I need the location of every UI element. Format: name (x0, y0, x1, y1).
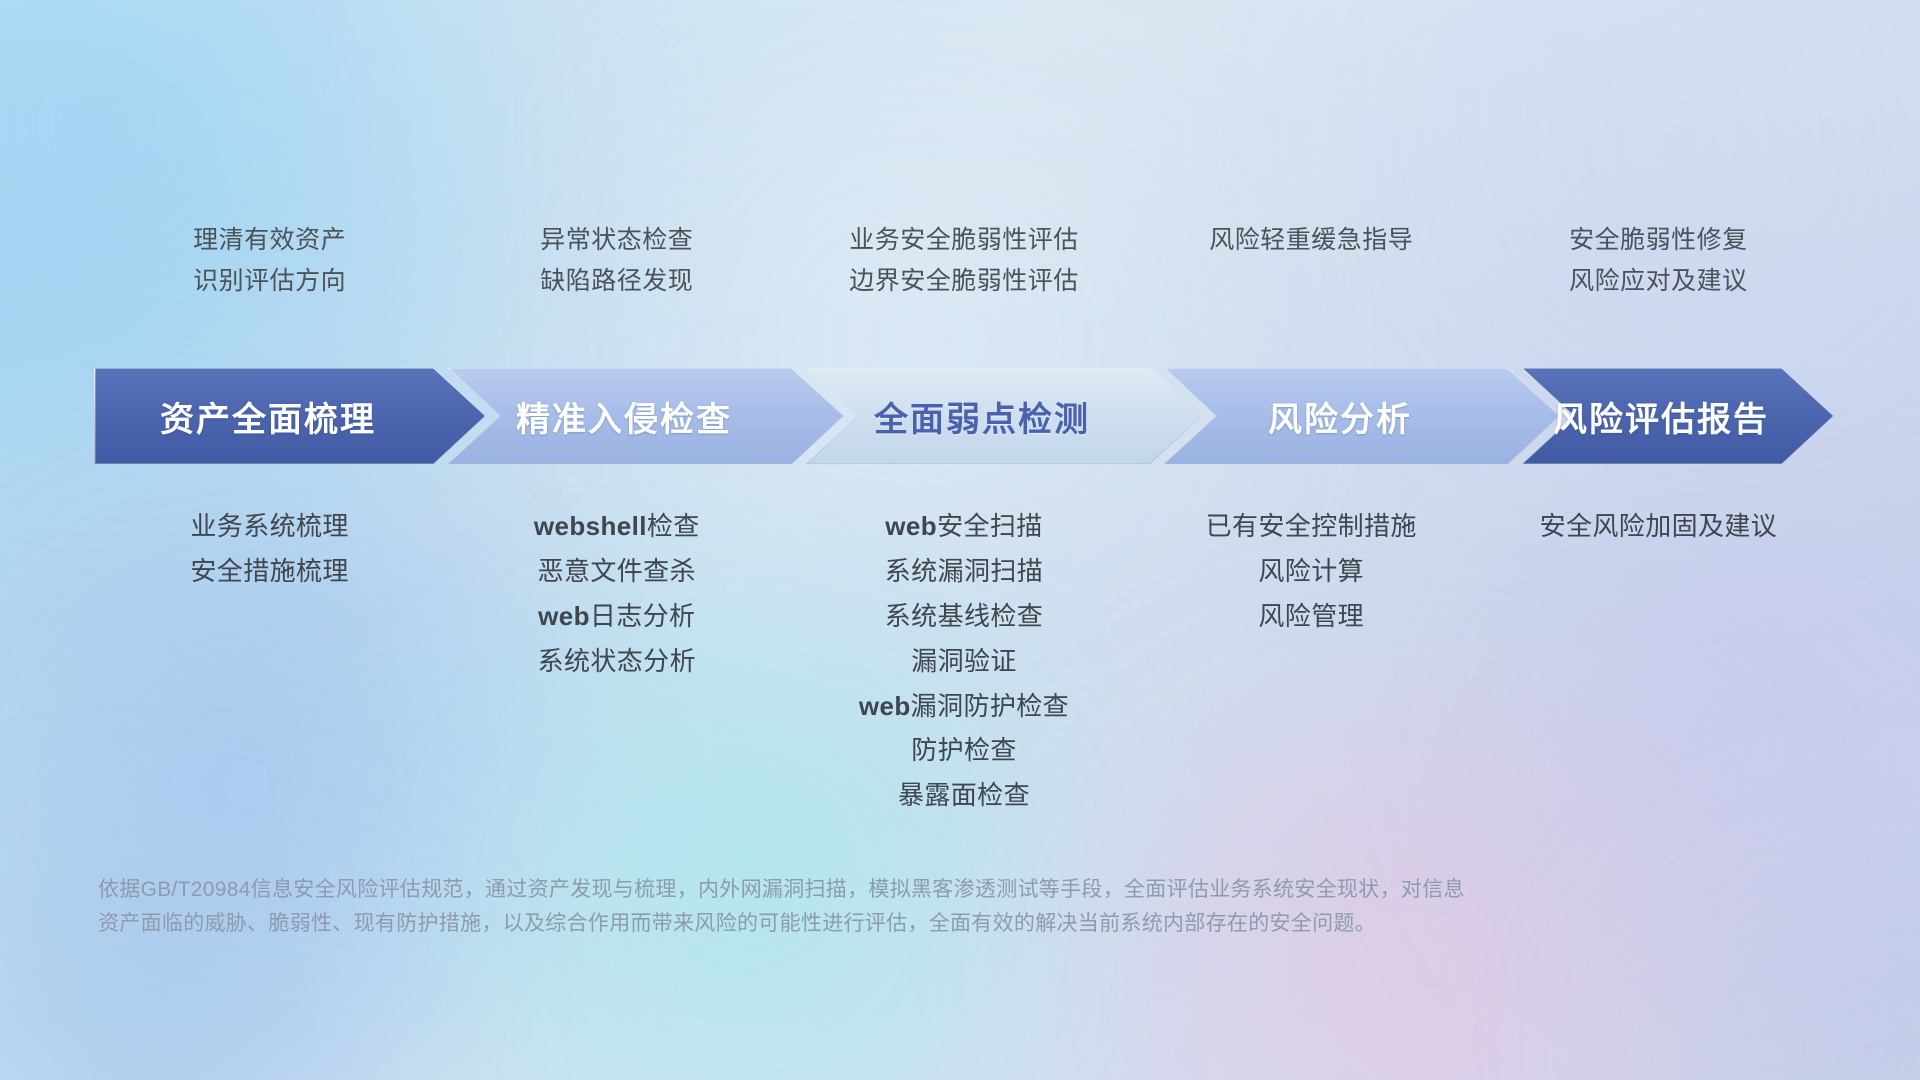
bottom-note: 系统漏洞扫描 (885, 557, 1043, 587)
bottom-note: 业务系统梳理 (190, 512, 348, 542)
bottom-note-bold: web (859, 691, 911, 721)
footer-line: 资产面临的威胁、脆弱性、现有防护措施，以及综合作用而带来风险的可能性进行评估，全… (98, 907, 1658, 941)
stage-label: 资产全面梳理 (94, 392, 486, 441)
bottom-note-text: 业务系统梳理 (190, 511, 348, 541)
bottom-note-text: 已有安全控制措施 (1206, 511, 1417, 541)
top-note: 理清有效资产 (193, 226, 346, 255)
top-notes-intrusion: 异常状态检查 缺陷路径发现 (443, 226, 790, 296)
top-notes-report: 安全脆弱性修复 风险应对及建议 (1485, 226, 1832, 296)
bottom-notes-row: 业务系统梳理 安全措施梳理 webshell检查 恶意文件查杀 web日志分析 … (96, 512, 1832, 811)
bottom-note-text: 恶意文件查杀 (538, 556, 696, 586)
footer-description: 依据GB/T20984信息安全风险评估规范，通过资产发现与梳理，内外网漏洞扫描，… (98, 873, 1658, 941)
top-note: 异常状态检查 (540, 226, 693, 255)
bottom-note-text: 防护检查 (911, 735, 1017, 765)
stage-chevron-asset[interactable]: 资产全面梳理 (94, 368, 486, 464)
top-note: 缺陷路径发现 (540, 267, 693, 296)
stage-chevron-band: 资产全面梳理 精准入侵检查 全面弱点检测 风险分析 风险评估报告 (94, 368, 1834, 464)
bottom-note: web日志分析 (538, 602, 695, 632)
footer-line: 依据GB/T20984信息安全风险评估规范，通过资产发现与梳理，内外网漏洞扫描，… (98, 873, 1658, 907)
bottom-notes-weakness: web安全扫描 系统漏洞扫描 系统基线检查 漏洞验证 web漏洞防护检查 防护检… (790, 512, 1137, 811)
bottom-note-bold: webshell (534, 511, 647, 541)
bottom-note-text: 日志分析 (590, 601, 696, 631)
top-note: 风险轻重缓急指导 (1209, 226, 1413, 255)
bottom-note: 安全措施梳理 (190, 557, 348, 587)
bottom-note-text: 系统基线检查 (885, 601, 1043, 631)
top-note: 识别评估方向 (193, 267, 346, 296)
bottom-note: 系统基线检查 (885, 602, 1043, 632)
bottom-notes-asset: 业务系统梳理 安全措施梳理 (96, 512, 443, 811)
stage-chevron-intrusion[interactable]: 精准入侵检查 (448, 368, 844, 464)
top-note: 风险应对及建议 (1569, 267, 1748, 296)
bottom-note-text: 安全扫描 (937, 511, 1043, 541)
bottom-note-text: 风险计算 (1258, 556, 1364, 586)
bottom-note-text: 漏洞验证 (911, 646, 1017, 676)
top-notes-risk-analysis: 风险轻重缓急指导 (1138, 226, 1485, 296)
top-notes-row: 理清有效资产 识别评估方向 异常状态检查 缺陷路径发现 业务安全脆弱性评估 边界… (96, 226, 1832, 296)
bottom-note-text: 安全风险加固及建议 (1540, 511, 1778, 541)
bottom-note: 防护检查 (911, 736, 1017, 766)
stage-label: 风险分析 (1164, 392, 1560, 441)
bottom-note: 系统状态分析 (538, 647, 696, 677)
top-notes-weakness: 业务安全脆弱性评估 边界安全脆弱性评估 (790, 226, 1137, 296)
bottom-note: web安全扫描 (885, 512, 1042, 542)
bottom-note: 恶意文件查杀 (538, 557, 696, 587)
bottom-note-text: 检查 (647, 511, 700, 541)
bottom-note-bold: web (538, 601, 590, 631)
stage-label: 风险评估报告 (1522, 392, 1834, 441)
bottom-note: web漏洞防护检查 (859, 692, 1069, 722)
stage-chevron-weakness[interactable]: 全面弱点检测 (806, 368, 1202, 464)
bottom-note-text: 暴露面检查 (898, 780, 1030, 810)
bottom-note: 风险管理 (1258, 602, 1364, 632)
bottom-note: 安全风险加固及建议 (1540, 512, 1778, 542)
bottom-note-text: 系统状态分析 (538, 646, 696, 676)
bottom-note-text: 漏洞防护检查 (911, 691, 1069, 721)
top-note: 边界安全脆弱性评估 (849, 267, 1079, 296)
bottom-notes-intrusion: webshell检查 恶意文件查杀 web日志分析 系统状态分析 (443, 512, 790, 811)
bottom-note: 漏洞验证 (911, 647, 1017, 677)
stage-label: 全面弱点检测 (806, 392, 1202, 441)
stage-label: 精准入侵检查 (448, 392, 844, 441)
stage-chevron-risk-analysis[interactable]: 风险分析 (1164, 368, 1560, 464)
bottom-note: 已有安全控制措施 (1206, 512, 1417, 542)
process-diagram: 理清有效资产 识别评估方向 异常状态检查 缺陷路径发现 业务安全脆弱性评估 边界… (0, 0, 1920, 1080)
bottom-notes-report: 安全风险加固及建议 (1485, 512, 1832, 811)
bottom-note-text: 安全措施梳理 (190, 556, 348, 586)
bottom-note-bold: web (885, 511, 937, 541)
top-note: 安全脆弱性修复 (1569, 226, 1748, 255)
bottom-note-text: 风险管理 (1258, 601, 1364, 631)
bottom-note: 暴露面检查 (898, 781, 1030, 811)
top-note: 业务安全脆弱性评估 (849, 226, 1079, 255)
bottom-notes-risk-analysis: 已有安全控制措施 风险计算 风险管理 (1138, 512, 1485, 811)
bottom-note-text: 系统漏洞扫描 (885, 556, 1043, 586)
stage-chevron-report[interactable]: 风险评估报告 (1522, 368, 1834, 464)
top-notes-asset: 理清有效资产 识别评估方向 (96, 226, 443, 296)
bottom-note: 风险计算 (1258, 557, 1364, 587)
bottom-note: webshell检查 (534, 512, 700, 542)
